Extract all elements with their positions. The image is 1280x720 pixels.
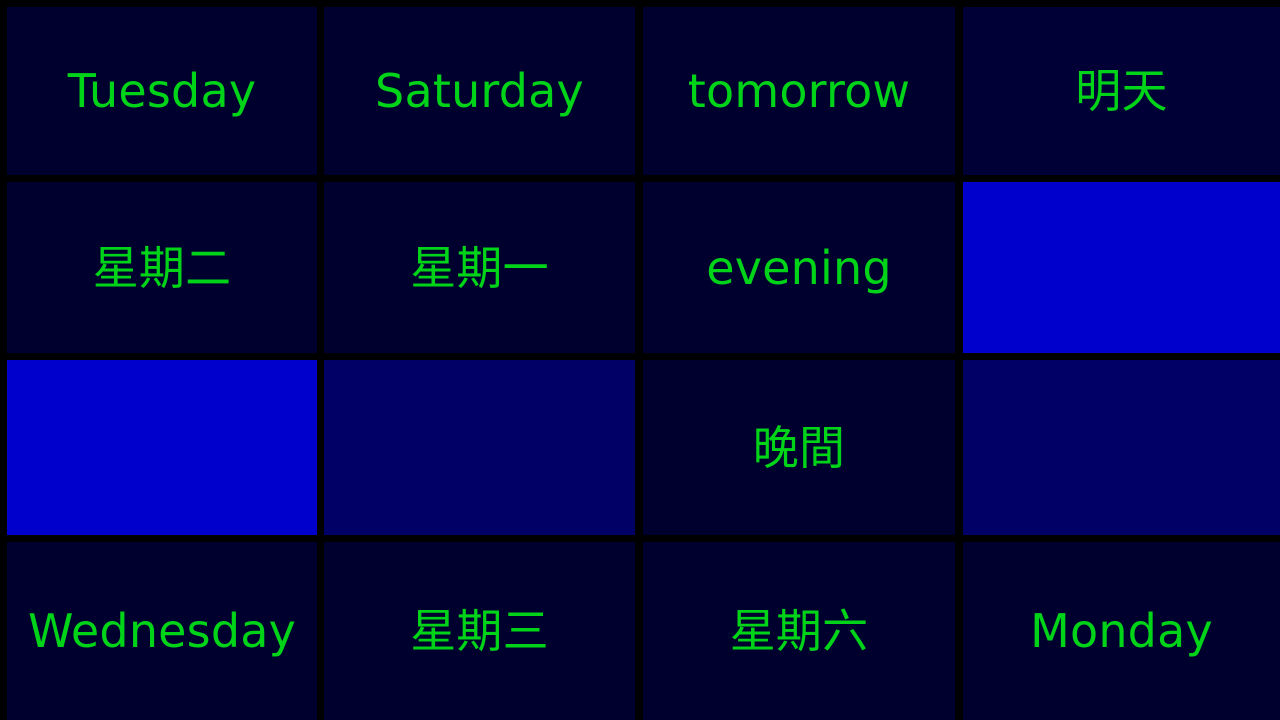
memory-card-r3-c4[interactable] bbox=[963, 360, 1280, 535]
memory-card-r2-c2[interactable]: 星期一 bbox=[324, 182, 635, 353]
memory-card-label: 星期一 bbox=[410, 245, 549, 291]
memory-card-label: tomorrow bbox=[688, 68, 911, 114]
memory-card-label: Monday bbox=[1030, 608, 1213, 654]
memory-card-r2-c1[interactable]: 星期二 bbox=[7, 182, 317, 353]
memory-card-label: 星期六 bbox=[730, 608, 869, 654]
memory-card-r2-c3[interactable]: evening bbox=[643, 182, 955, 353]
memory-card-r1-c4[interactable]: 明天 bbox=[963, 7, 1280, 175]
memory-card-label: 星期二 bbox=[93, 245, 232, 291]
memory-card-r3-c1[interactable] bbox=[7, 360, 317, 535]
memory-match-board: TuesdaySaturdaytomorrow明天星期二星期一evening晚間… bbox=[0, 0, 1280, 720]
memory-card-label: evening bbox=[706, 245, 892, 291]
memory-card-r3-c3[interactable]: 晚間 bbox=[643, 360, 955, 535]
memory-card-label: 星期三 bbox=[410, 608, 549, 654]
memory-card-label: 明天 bbox=[1075, 68, 1167, 114]
memory-card-r1-c3[interactable]: tomorrow bbox=[643, 7, 955, 175]
memory-card-r3-c2[interactable] bbox=[324, 360, 635, 535]
memory-card-r2-c4[interactable] bbox=[963, 182, 1280, 353]
memory-card-r4-c4[interactable]: Monday bbox=[963, 542, 1280, 720]
memory-card-label: Saturday bbox=[375, 68, 584, 114]
memory-card-r4-c1[interactable]: Wednesday bbox=[7, 542, 317, 720]
memory-card-label: 晚間 bbox=[753, 425, 845, 471]
memory-card-r4-c3[interactable]: 星期六 bbox=[643, 542, 955, 720]
memory-card-r1-c2[interactable]: Saturday bbox=[324, 7, 635, 175]
memory-card-r4-c2[interactable]: 星期三 bbox=[324, 542, 635, 720]
memory-card-label: Tuesday bbox=[68, 68, 257, 114]
memory-card-label: Wednesday bbox=[28, 608, 296, 654]
memory-card-r1-c1[interactable]: Tuesday bbox=[7, 7, 317, 175]
